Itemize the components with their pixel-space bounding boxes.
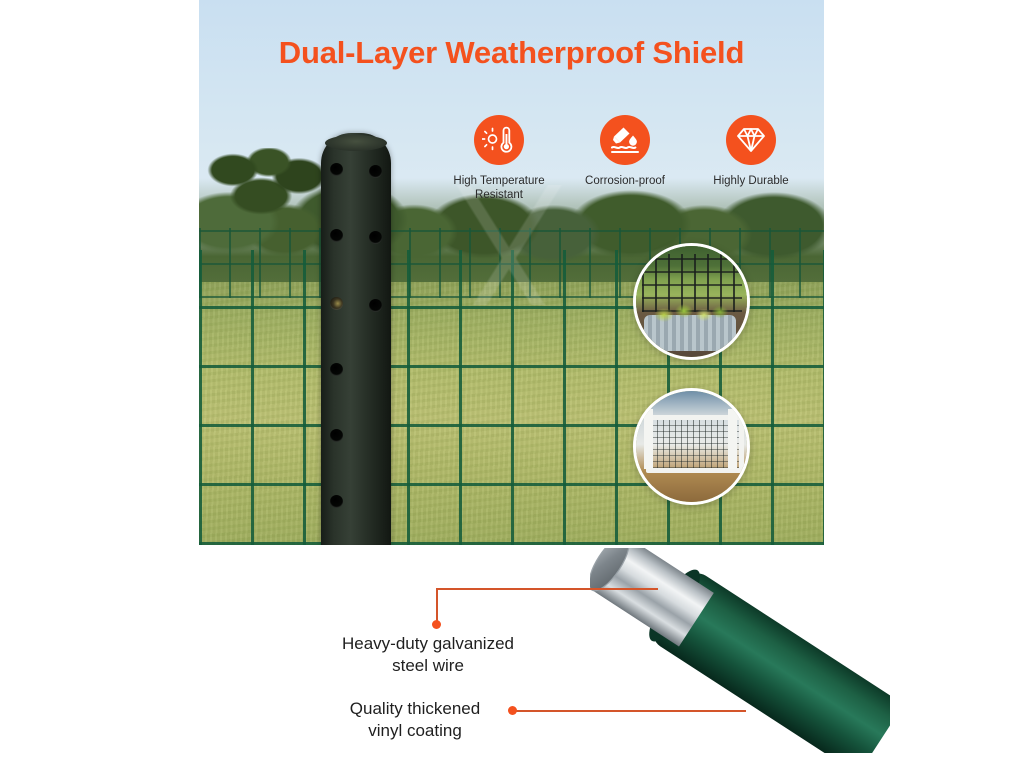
beaker-droplet-icon <box>600 115 650 165</box>
callout-1-leader-vertical <box>436 588 438 624</box>
post-hole <box>330 429 343 442</box>
feature-label: Corrosion-proof <box>566 174 684 188</box>
feature-label-line1: Corrosion-proof <box>566 174 684 188</box>
feature-label: High Temperature Resistant <box>440 174 558 203</box>
inset-rail-post <box>644 409 653 469</box>
page-title: Dual-Layer Weatherproof Shield <box>199 35 824 71</box>
feature-list: High Temperature Resistant Corrosion-pro… <box>440 115 810 203</box>
feature-label: Highly Durable <box>692 174 810 188</box>
callout-2-leader <box>516 710 746 712</box>
callout-line2: vinyl coating <box>300 720 530 742</box>
feature-label-line1: High Temperature <box>440 174 558 188</box>
feature-label-line1: Highly Durable <box>692 174 810 188</box>
callout-quality-thickened-vinyl-coating: Quality thickened vinyl coating <box>300 698 530 743</box>
feature-highly-durable: Highly Durable <box>692 115 810 188</box>
product-infographic: Dual-Layer Weatherproof Shield <box>0 0 1024 768</box>
callout-1-leader-horizontal <box>436 588 658 590</box>
inset-plants <box>648 297 732 327</box>
sun-thermometer-icon <box>474 115 524 165</box>
callout-line1: Heavy-duty galvanized <box>300 633 556 655</box>
post-hole <box>330 495 343 508</box>
post-hole <box>369 299 382 312</box>
callout-line2: steel wire <box>300 655 556 677</box>
post-hole <box>330 363 343 376</box>
feature-high-temperature: High Temperature Resistant <box>440 115 558 203</box>
diamond-icon <box>726 115 776 165</box>
post-hole <box>330 297 343 310</box>
large-tree <box>207 148 323 238</box>
deck-railing-inset <box>633 388 750 505</box>
feature-label-line2: Resistant <box>440 188 558 202</box>
feature-corrosion-proof: Corrosion-proof <box>566 115 684 188</box>
wire-cross-section-illustration <box>590 548 890 753</box>
post-hole <box>369 231 382 244</box>
raised-garden-bed-inset <box>633 243 750 360</box>
callout-line1: Quality thickened <box>300 698 530 720</box>
fence-post <box>321 133 391 545</box>
post-hole <box>330 229 343 242</box>
callout-1-dot <box>432 620 441 629</box>
post-hole <box>330 163 343 176</box>
inset-rail-post <box>728 409 737 469</box>
callout-heavy-duty-galvanized-steel-wire: Heavy-duty galvanized steel wire <box>300 633 556 678</box>
post-hole <box>369 165 382 178</box>
hero-photo <box>199 0 824 545</box>
